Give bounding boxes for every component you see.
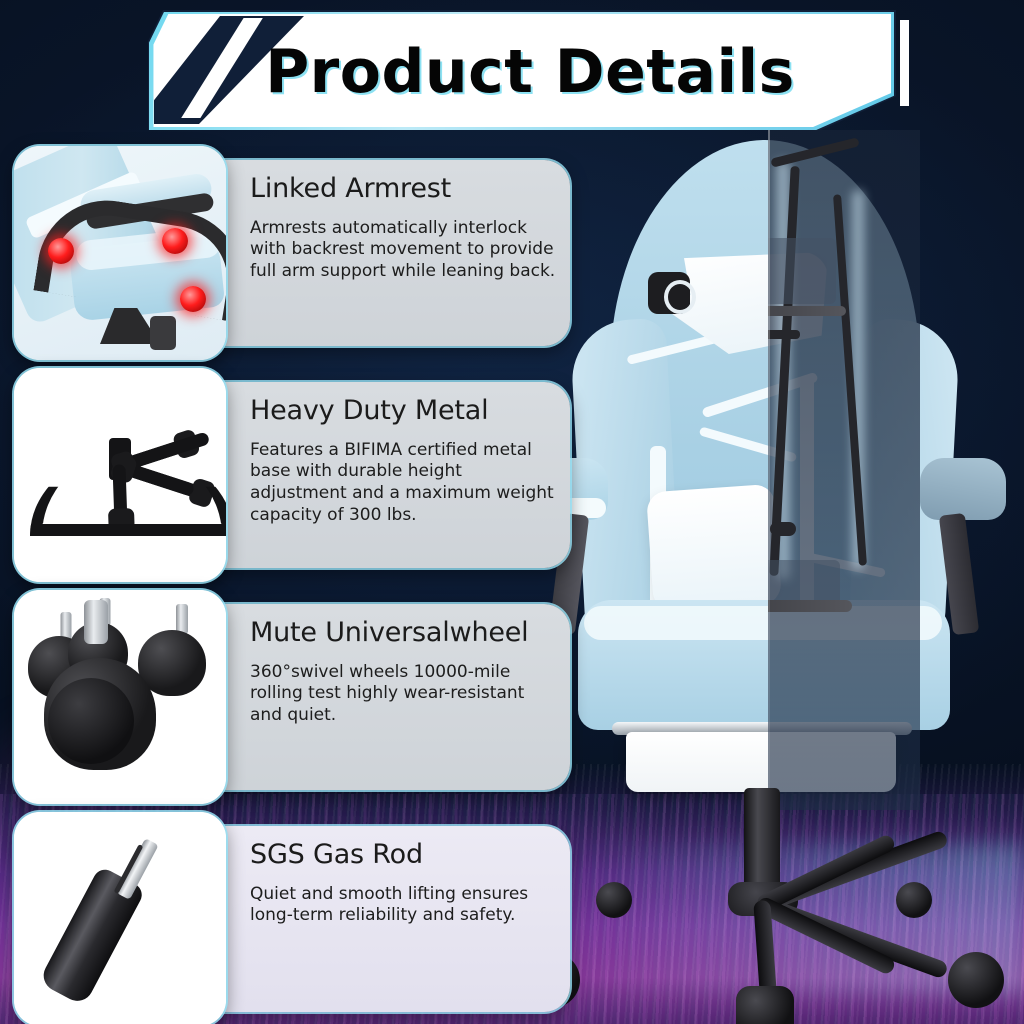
joint-highlight-icon: [180, 286, 206, 312]
feature-title: Linked Armrest: [250, 174, 556, 204]
metal-base-photo: [14, 368, 226, 582]
joint-highlight-icon: [162, 228, 188, 254]
feature-panel: Heavy Duty Metal Features a BIFIMA certi…: [200, 382, 570, 568]
product-details-infographic: Product Details: [0, 0, 1024, 1024]
chair-caster-wheel: [896, 882, 932, 918]
feature-panel: Mute Universalwheel 360°swivel wheels 10…: [200, 604, 570, 790]
chair-caster-wheel: [596, 882, 632, 918]
page-title: Product Details: [140, 8, 902, 136]
feature-description: Quiet and smooth lifting ensures long-te…: [250, 884, 556, 928]
xray-frame-bar: [770, 137, 860, 168]
feature-description: Features a BIFIMA certified metal base w…: [250, 440, 556, 527]
caster-front-icon: [44, 648, 164, 778]
feature-title: Mute Universalwheel: [250, 618, 556, 648]
chair-caster-wheel: [736, 986, 794, 1024]
feature-card-mute-universalwheel[interactable]: Mute Universalwheel 360°swivel wheels 10…: [14, 590, 570, 804]
chair-base-leg: [755, 895, 897, 976]
hero-chair-image: [500, 140, 1024, 1024]
feature-title: SGS Gas Rod: [250, 840, 556, 870]
feature-panel: Linked Armrest Armrests automatically in…: [200, 160, 570, 346]
feature-description: Armrests automatically interlock with ba…: [250, 218, 556, 283]
xray-bracket: [770, 522, 796, 536]
header-banner: Product Details: [140, 8, 902, 136]
gas-rod-photo: [14, 812, 226, 1024]
feature-card-heavy-duty-metal[interactable]: Heavy Duty Metal Features a BIFIMA certi…: [14, 368, 570, 582]
feature-panel: SGS Gas Rod Quiet and smooth lifting ens…: [200, 826, 570, 1012]
chair-split-divider: [768, 130, 770, 820]
chair-lumbar-pillow: [646, 484, 782, 613]
casters-photo: [14, 590, 226, 804]
feature-title: Heavy Duty Metal: [250, 396, 556, 426]
feature-card-sgs-gas-rod[interactable]: SGS Gas Rod Quiet and smooth lifting ens…: [14, 812, 570, 1024]
feature-card-linked-armrest[interactable]: Linked Armrest Armrests automatically in…: [14, 146, 570, 360]
chair-caster-wheel: [948, 952, 1004, 1008]
chair-armrest-right: [920, 458, 1006, 520]
chair-gas-cylinder: [744, 788, 780, 892]
chair-headrest-buckle: [648, 272, 690, 314]
feature-description: 360°swivel wheels 10000-mile rolling tes…: [250, 662, 556, 727]
armrest-photo: [14, 146, 226, 360]
joint-highlight-icon: [48, 238, 74, 264]
